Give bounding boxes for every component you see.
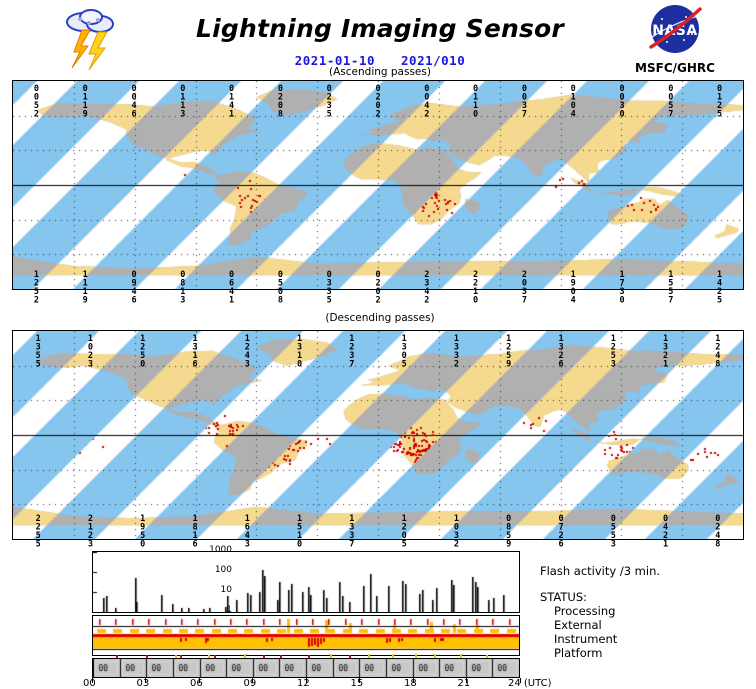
orbit-time-label: 1023 xyxy=(86,334,93,368)
orbit-time-label: 1259 xyxy=(505,334,512,368)
orbit-time-label: 0046 xyxy=(130,84,137,118)
orbit-time-label: 0104 xyxy=(569,84,576,118)
x-axis-tick-mark xyxy=(466,678,467,683)
orbit-time-label: 0641 xyxy=(228,270,235,304)
legend-item-platform: Platform xyxy=(540,646,750,660)
orbit-time-label: 0946 xyxy=(130,270,137,304)
orbit-time-label: 1355 xyxy=(34,334,41,368)
map-descending-passes[interactable] xyxy=(12,330,744,540)
orbit-time-label: 1205 xyxy=(400,514,407,548)
x-axis-tick-mark xyxy=(520,678,521,683)
orbit-time-label: 1316 xyxy=(191,334,198,368)
orbit-time-label: 1950 xyxy=(139,514,146,548)
status-bars[interactable] xyxy=(92,615,520,656)
orbit-time-label: 1032 xyxy=(452,514,459,548)
flash-activity-canvas xyxy=(93,552,519,612)
x-axis-tick-mark xyxy=(92,678,93,683)
legend-item-instrument: Instrument xyxy=(540,632,750,646)
orbit-time-label: 0110 xyxy=(472,84,479,118)
flash-activity-chart[interactable] xyxy=(92,551,520,613)
timeline-event-marker xyxy=(486,655,488,658)
timeline-event-marker xyxy=(214,655,216,658)
orbit-time-label: 1337 xyxy=(348,514,355,548)
orbit-time-label: 0553 xyxy=(609,514,616,548)
orbit-time-label: 1557 xyxy=(667,270,674,304)
y-axis-tick-label: 1000 xyxy=(188,545,232,555)
timeline-strip[interactable] xyxy=(92,658,520,678)
orbit-time-label: 1425 xyxy=(716,270,723,304)
orbit-time-label: 2342 xyxy=(423,270,430,304)
y-axis-tick-label: 100 xyxy=(188,565,232,575)
orbit-time-label: 1904 xyxy=(569,270,576,304)
orbit-time-label: 0248 xyxy=(714,514,721,548)
orbit-time-label: 1248 xyxy=(714,334,721,368)
timeline-event-marker xyxy=(244,654,246,658)
x-axis-tick-mark xyxy=(359,678,360,683)
orbit-time-label: 0235 xyxy=(325,84,332,118)
timeline-event-marker xyxy=(392,654,394,658)
x-axis-tick-mark xyxy=(145,678,146,683)
agency-caption: MSFC/GHRC xyxy=(620,61,730,75)
timeline-event-marker xyxy=(415,654,417,658)
timeline-event-marker xyxy=(368,654,370,658)
orbit-time-label: 0202 xyxy=(374,270,381,304)
status-bars-canvas xyxy=(93,616,519,655)
orbit-time-label: 0508 xyxy=(276,270,283,304)
timeline-event-marker xyxy=(263,655,265,658)
timeline-event-marker xyxy=(349,655,351,658)
page-header: Lightning Imaging Sensor 2021-01-102021/… xyxy=(0,0,756,78)
orbit-time-label: 0119 xyxy=(81,84,88,118)
descending-map-canvas xyxy=(13,331,743,539)
timeline-event-marker xyxy=(208,655,210,658)
timeline-event-marker xyxy=(175,655,177,658)
orbit-time-label: 1643 xyxy=(243,514,250,548)
legend-item-processing: Processing xyxy=(540,604,750,618)
timeline-event-marker xyxy=(308,655,310,658)
timeline-event-marker xyxy=(146,655,148,658)
legend-item-external: External xyxy=(540,618,750,632)
orbit-time-label: 0125 xyxy=(716,84,723,118)
orbit-time-label: 1730 xyxy=(618,270,625,304)
orbit-time-label: 1237 xyxy=(348,334,355,368)
orbit-time-label: 2123 xyxy=(86,514,93,548)
y-axis-tick-label: 1 xyxy=(188,605,232,615)
page-title: Lightning Imaging Sensor xyxy=(170,14,590,43)
orbit-time-label: 0037 xyxy=(520,84,527,118)
orbit-time-label: 2255 xyxy=(34,514,41,548)
orbit-time-label: 0141 xyxy=(228,84,235,118)
orbit-time-label: 0335 xyxy=(325,270,332,304)
orbit-time-label: 0030 xyxy=(618,84,625,118)
nasa-logo-block: NASA MSFC/GHRC xyxy=(620,4,730,75)
orbit-time-label: 1252 xyxy=(32,270,39,304)
orbit-time-label: 0208 xyxy=(276,84,283,118)
orbit-time-label: 0057 xyxy=(667,84,674,118)
descending-subtitle: (Descending passes) xyxy=(170,312,590,324)
orbit-time-label: 0421 xyxy=(662,514,669,548)
orbit-time-label: 2037 xyxy=(520,270,527,304)
orbit-time-label: 0042 xyxy=(423,84,430,118)
x-axis-tick-mark xyxy=(306,678,307,683)
orbit-time-label: 1310 xyxy=(296,334,303,368)
thunderstorm-icon xyxy=(58,6,130,72)
orbit-time-label: 1332 xyxy=(452,334,459,368)
orbit-time-label: 0813 xyxy=(179,270,186,304)
ascending-subtitle: (Ascending passes) xyxy=(170,66,590,78)
timeline-event-marker xyxy=(460,654,462,658)
orbit-time-label: 1119 xyxy=(81,270,88,304)
orbit-time-label: 1250 xyxy=(139,334,146,368)
legend-status-title: STATUS: xyxy=(540,590,750,604)
orbit-time-label: 1243 xyxy=(243,334,250,368)
y-axis-tick-label: 10 xyxy=(188,585,232,595)
orbit-time-label: 1321 xyxy=(662,334,669,368)
timeline-canvas xyxy=(93,659,519,677)
orbit-time-label: 1326 xyxy=(557,334,564,368)
legend-flash-activity: Flash activity /3 min. xyxy=(540,564,750,578)
orbit-time-label: 0113 xyxy=(179,84,186,118)
orbit-time-label: 1305 xyxy=(400,334,407,368)
timeline-event-marker xyxy=(280,655,282,658)
orbit-time-label: 1510 xyxy=(296,514,303,548)
chart-legend: Flash activity /3 min. STATUS: Processin… xyxy=(540,564,750,660)
timeline-event-marker xyxy=(330,654,332,658)
x-axis-tick-mark xyxy=(252,678,253,683)
orbit-time-label: 0052 xyxy=(32,84,39,118)
nasa-meatball-logo: NASA xyxy=(642,4,708,56)
timeline-event-marker xyxy=(180,655,182,658)
orbit-time-label: 0202 xyxy=(374,84,381,118)
bottom-status-panel: 1000100101 000306091215182124 (UTC) Flas… xyxy=(0,548,756,680)
orbit-time-label: 0859 xyxy=(505,514,512,548)
orbit-time-label: 2210 xyxy=(472,270,479,304)
timeline-event-marker xyxy=(434,654,436,658)
x-axis-tick-mark xyxy=(199,678,200,683)
orbit-time-label: 1253 xyxy=(609,334,616,368)
orbit-time-label: 0726 xyxy=(557,514,564,548)
orbit-time-label: 1816 xyxy=(191,514,198,548)
timeline-event-marker xyxy=(116,655,118,658)
x-axis-tick-mark xyxy=(413,678,414,683)
